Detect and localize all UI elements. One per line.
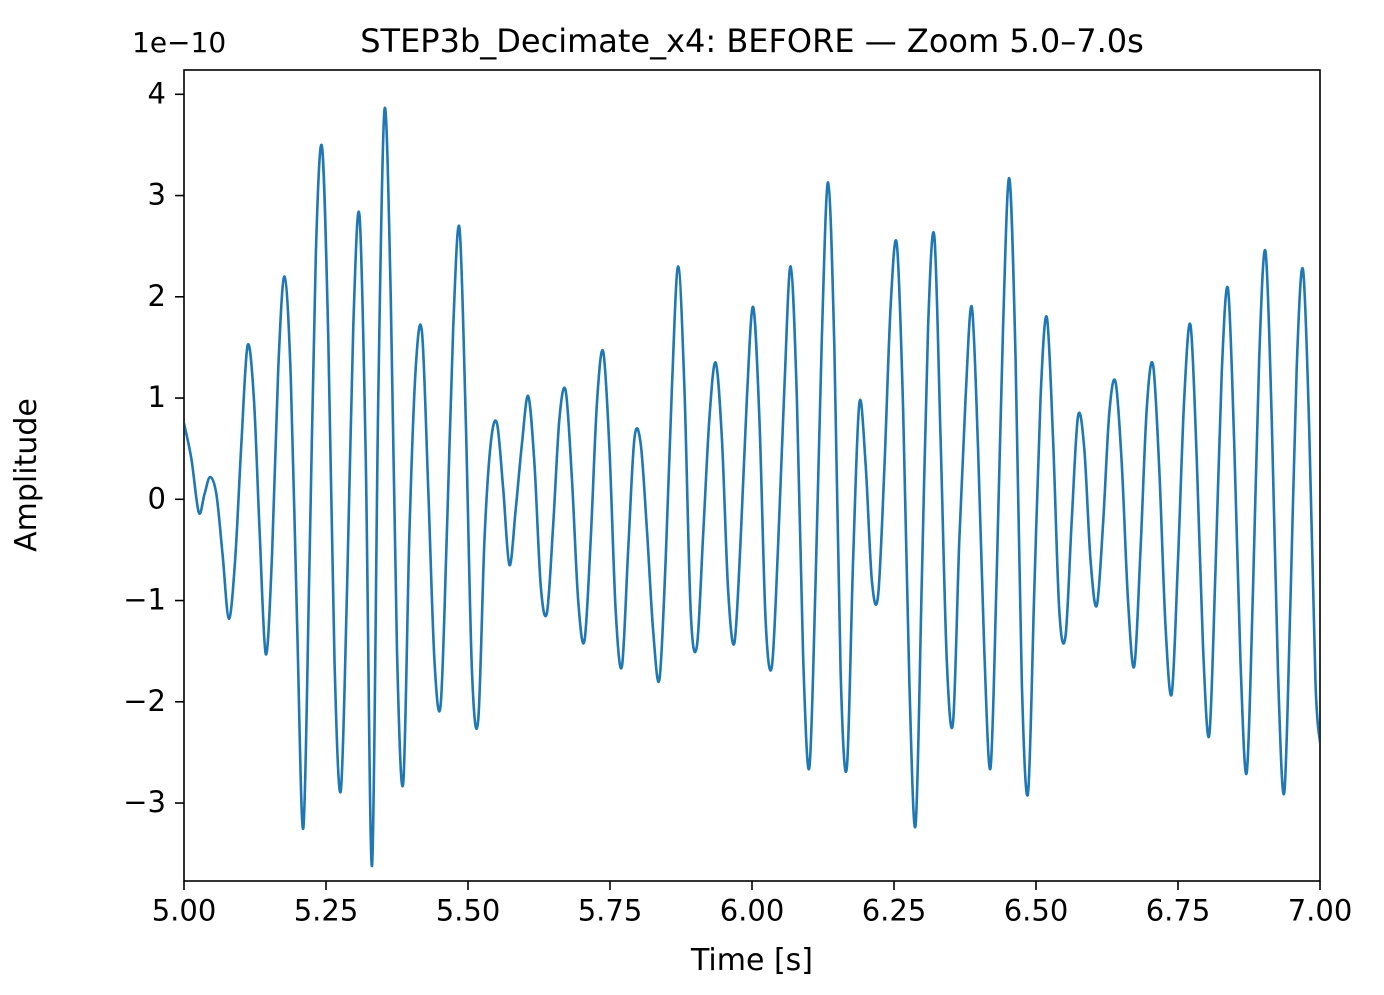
y-axis-label: Amplitude — [9, 398, 44, 552]
x-tick-label: 7.00 — [1288, 894, 1353, 928]
x-tick-label: 5.75 — [578, 894, 643, 928]
y-tick-label: 1 — [148, 380, 166, 414]
matplotlib-figure: STEP3b_Decimate_x4: BEFORE — Zoom 5.0–7.… — [0, 0, 1384, 995]
y-axis-offset-label: 1e−10 — [132, 26, 226, 59]
x-tick-label: 5.00 — [152, 894, 217, 928]
x-axis-label: Time [s] — [690, 943, 813, 978]
y-tick-label: 0 — [148, 481, 166, 515]
x-tick-label: 5.25 — [294, 894, 359, 928]
x-tick-label: 6.00 — [720, 894, 785, 928]
x-tick-label: 5.50 — [436, 894, 501, 928]
y-tick-label: 3 — [148, 178, 166, 212]
figure-background — [0, 0, 1384, 995]
y-tick-label: 2 — [148, 279, 166, 313]
y-tick-label: −1 — [123, 583, 166, 617]
x-tick-label: 6.50 — [1004, 894, 1069, 928]
y-tick-label: −3 — [123, 785, 166, 819]
x-tick-label: 6.25 — [862, 894, 927, 928]
plot-canvas: STEP3b_Decimate_x4: BEFORE — Zoom 5.0–7.… — [0, 0, 1384, 995]
y-tick-label: 4 — [148, 76, 166, 110]
x-tick-label: 6.75 — [1146, 894, 1211, 928]
chart-title: STEP3b_Decimate_x4: BEFORE — Zoom 5.0–7.… — [360, 22, 1144, 60]
y-tick-label: −2 — [123, 684, 166, 718]
